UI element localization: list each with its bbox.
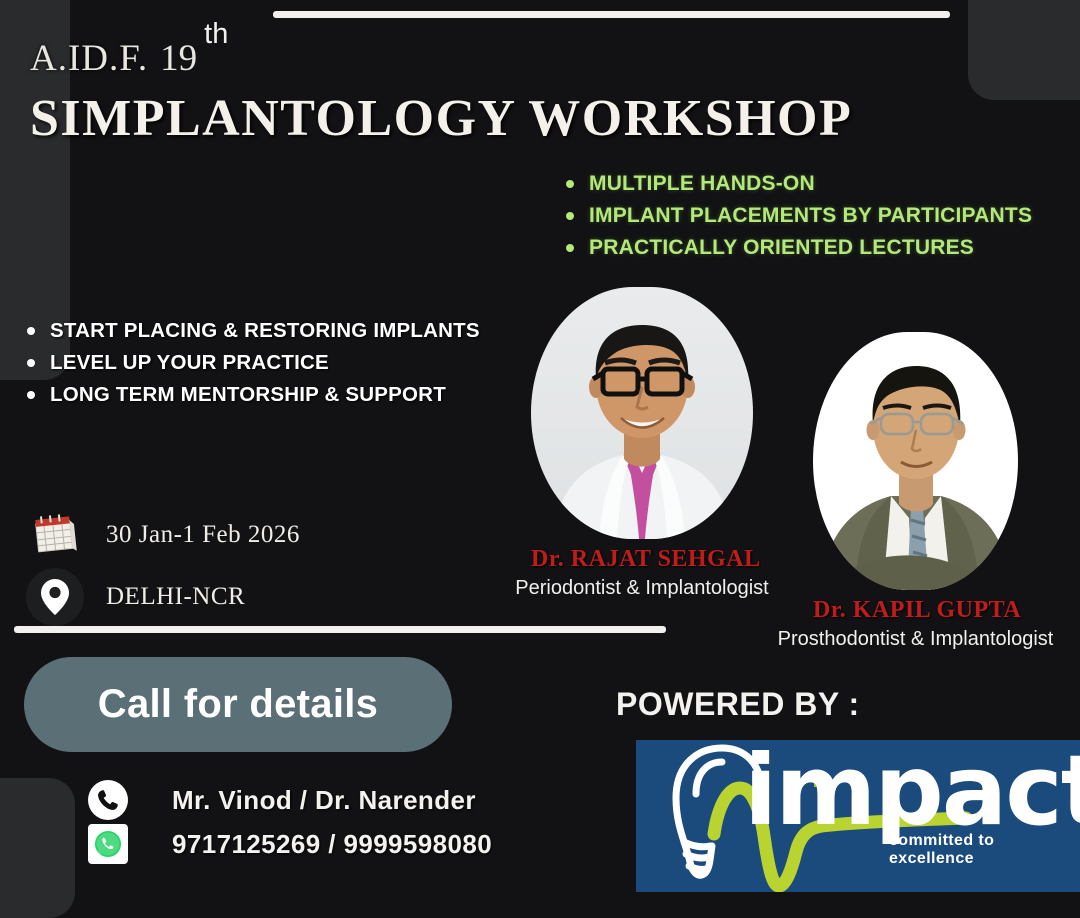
contact-names: Mr. Vinod / Dr. Narender	[172, 785, 476, 816]
speaker-role: Prosthodontist & Implantologist	[748, 628, 1080, 651]
event-date-row: 30 Jan-1 Feb 2026	[26, 504, 300, 566]
speaker-name: Dr. KAPIL GUPTA	[813, 597, 1018, 624]
phone-icon[interactable]	[88, 780, 128, 820]
page-title: SIMPLANTOLOGY WORKSHOP	[30, 89, 850, 148]
speaker-name: Dr. RAJAT SEHGAL	[531, 546, 753, 573]
list-item: PRACTICALLY ORIENTED LECTURES	[561, 232, 1032, 264]
calendar-icon	[26, 506, 84, 564]
edition-ordinal-suffix: th	[204, 18, 228, 51]
green-highlights-list: MULTIPLE HANDS-ON IMPLANT PLACEMENTS BY …	[561, 168, 1032, 264]
list-item: LEVEL UP YOUR PRACTICE	[22, 347, 480, 379]
contact-numbers: 9717125269 / 9999598080	[172, 829, 492, 860]
event-poster: A.ID.F. 19 th SIMPLANTOLOGY WORKSHOP MUL…	[0, 0, 1080, 918]
impact-logo: impact committed to excellence	[636, 740, 1080, 892]
event-location-row: DELHI-NCR	[26, 566, 300, 628]
speaker-role: Periodontist & Implantologist	[471, 577, 813, 600]
decorative-panel-bottom-left	[0, 778, 75, 918]
event-info-block: 30 Jan-1 Feb 2026 DELHI-NCR	[26, 504, 300, 628]
list-item: IMPLANT PLACEMENTS BY PARTICIPANTS	[561, 200, 1032, 232]
contact-numbers-row: 9717125269 / 9999598080	[88, 822, 492, 866]
logo-tagline: committed to excellence	[889, 832, 1080, 868]
decorative-panel-top-right	[968, 0, 1080, 100]
map-pin-icon	[26, 568, 84, 626]
list-item: LONG TERM MENTORSHIP & SUPPORT	[22, 379, 480, 411]
edition-number: 19	[160, 40, 197, 77]
event-date: 30 Jan-1 Feb 2026	[106, 521, 300, 549]
edition-line: A.ID.F. 19 th	[30, 40, 850, 77]
powered-by-label: POWERED BY :	[616, 686, 860, 723]
contact-block: Mr. Vinod / Dr. Narender 9717125269 / 99…	[88, 778, 492, 866]
contact-names-row: Mr. Vinod / Dr. Narender	[88, 778, 492, 822]
list-item: START PLACING & RESTORING IMPLANTS	[22, 315, 480, 347]
event-location: DELHI-NCR	[106, 583, 245, 611]
avatar	[813, 332, 1018, 590]
avatar	[531, 287, 753, 539]
top-divider-line	[273, 11, 950, 18]
call-for-details-button[interactable]: Call for details	[24, 657, 452, 752]
call-for-details-label: Call for details	[98, 682, 378, 727]
whatsapp-icon[interactable]	[88, 824, 128, 864]
logo-wordmark: impact	[744, 740, 1080, 847]
poster-header: A.ID.F. 19 th SIMPLANTOLOGY WORKSHOP	[30, 40, 850, 148]
white-highlights-list: START PLACING & RESTORING IMPLANTS LEVEL…	[22, 315, 480, 411]
list-item: MULTIPLE HANDS-ON	[561, 168, 1032, 200]
organizer-acronym: A.ID.F.	[30, 40, 148, 77]
